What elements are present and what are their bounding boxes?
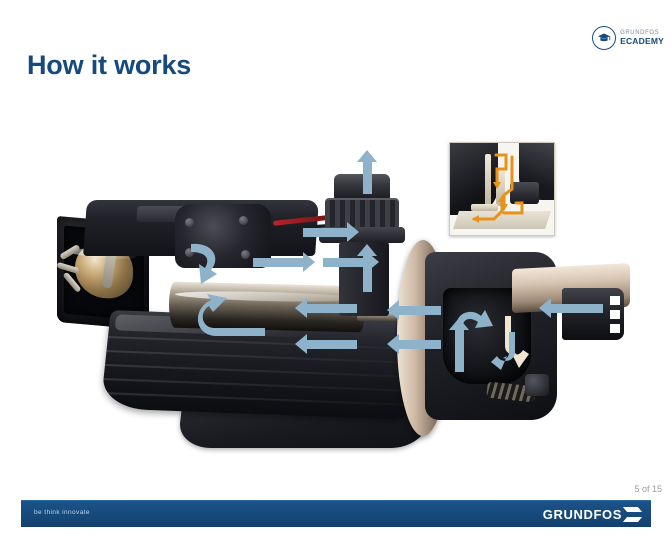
flow-arrow-return-left-upper: [295, 298, 357, 319]
flow-arrow-volute-return: [485, 312, 539, 372]
flow-arrow-discharge-up: [357, 150, 378, 184]
graduation-cap-icon: [592, 26, 616, 50]
grundfos-logo-text: GRUNDFOS: [543, 507, 622, 522]
inset-flow-arrows: [450, 143, 554, 235]
ecademy-logo-line2: ECADEMY: [620, 37, 664, 46]
footer-bar: be think innovate GRUNDFOS: [21, 500, 651, 527]
flow-arrow-head-left-lower: [387, 334, 441, 355]
grundfos-logo: GRUNDFOS: [543, 506, 641, 523]
slide: How it works GRUNDFOS ECADEMY: [0, 0, 672, 558]
grundfos-x-icon: [624, 506, 641, 523]
page-title: How it works: [27, 50, 191, 81]
flow-arrow-valve-out-right: [253, 252, 315, 273]
ecademy-logo: GRUNDFOS ECADEMY: [592, 26, 664, 50]
flow-arrow-impeller-hook: [187, 288, 271, 340]
ecademy-logo-text: GRUNDFOS ECADEMY: [620, 30, 664, 46]
drain-plug: [525, 374, 549, 396]
flow-arrow-head-left-upper: [387, 300, 441, 321]
flow-arrow-gearhead-hook: [183, 238, 227, 290]
flow-arrow-chamber-right: [303, 222, 359, 243]
flow-arrow-valve-out-right-2: [323, 252, 379, 273]
pump-cutaway-figure: [57, 148, 617, 468]
page-indicator: 5 of 15: [634, 484, 662, 494]
flow-arrow-return-left-lower: [295, 334, 357, 355]
detail-inset-photo: [449, 142, 555, 236]
footer-tagline: be think innovate: [34, 509, 90, 516]
flow-arrow-suction-in: [539, 298, 603, 319]
